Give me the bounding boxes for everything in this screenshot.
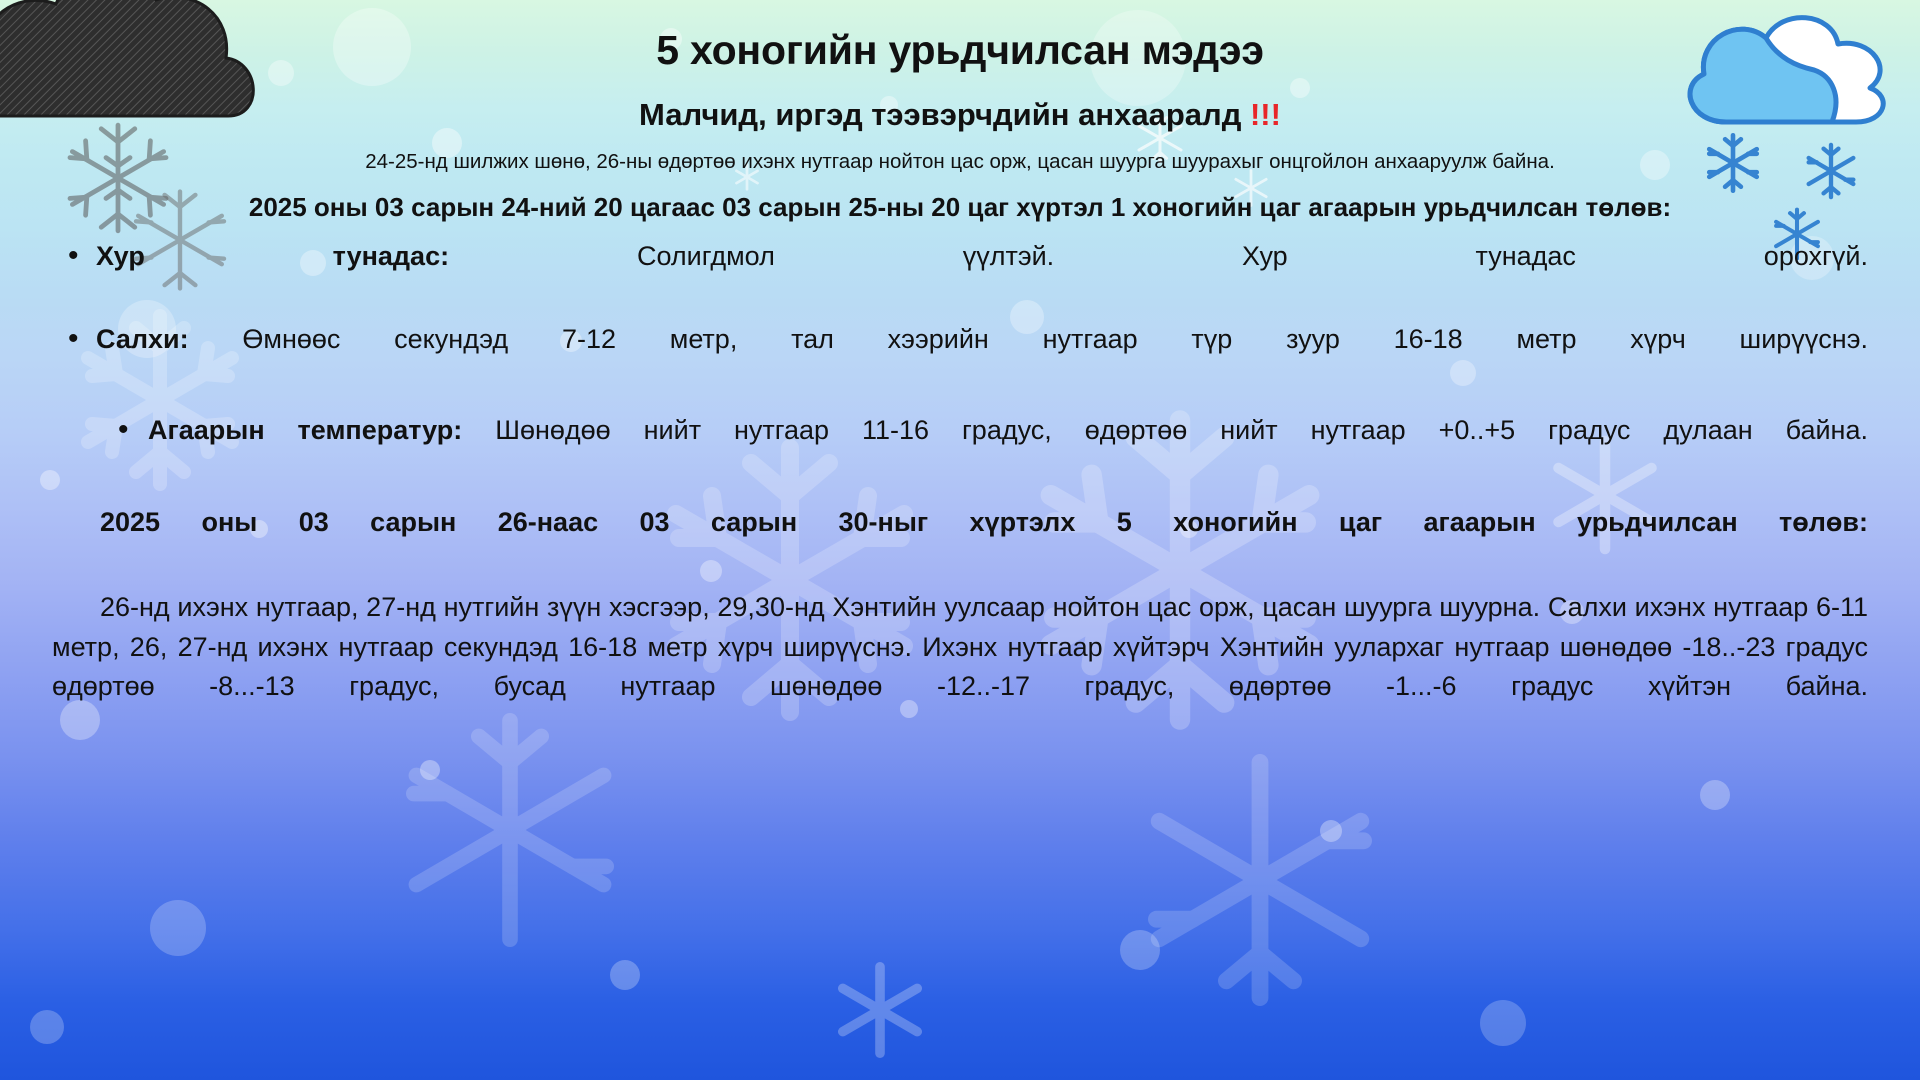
bokeh-circle xyxy=(1700,780,1730,810)
warning-exclamation-marks: !!! xyxy=(1250,97,1281,132)
warning-heading-text: Малчид, иргэд тээвэрчдийн анхааралд xyxy=(639,97,1250,132)
bullet-text: Шөнөдөө нийт нутгаар 11-16 градус, өдөрт… xyxy=(462,415,1868,445)
bokeh-circle xyxy=(1480,1000,1526,1046)
forecast-1-heading: 2025 оны 03 сарын 24-ний 20 цагаас 03 са… xyxy=(52,190,1868,225)
forecast-2-body: 26-нд ихэнх нутгаар, 27-нд нутгийн зүүн … xyxy=(52,588,1868,745)
list-item-wind: Салхи: Өмнөөс секундэд 7-12 метр, тал хэ… xyxy=(52,320,1868,397)
bokeh-circle xyxy=(610,960,640,990)
page-title: 5 хоногийн урьдчилсан мэдээ xyxy=(52,26,1868,74)
forecast-2-heading: 2025 оны 03 сарын 26-наас 03 сарын 30-ны… xyxy=(52,503,1868,581)
snowflake-icon xyxy=(1120,740,1400,1020)
forecast-document: 5 хоногийн урьдчилсан мэдээ Малчид, иргэ… xyxy=(0,0,1920,745)
bokeh-circle xyxy=(1120,930,1160,970)
bokeh-circle xyxy=(30,1010,64,1044)
forecast-1-bullet-list: Хур тунадас: Солигдмол үүлтэй. Хур тунад… xyxy=(52,237,1868,489)
warning-body-text: 24-25-нд шилжих шөнө, 26-ны өдөртөө ихэн… xyxy=(175,147,1745,176)
bullet-label: Салхи: xyxy=(96,324,189,354)
list-item-precipitation: Хур тунадас: Солигдмол үүлтэй. Хур тунад… xyxy=(52,237,1868,314)
bullet-text: Солигдмол үүлтэй. Хур тунадас орохгүй. xyxy=(449,241,1868,271)
bullet-text: Өмнөөс секундэд 7-12 метр, тал хээрийн н… xyxy=(189,324,1868,354)
bullet-label: Агаарын температур: xyxy=(148,415,462,445)
warning-heading: Малчид, иргэд тээвэрчдийн анхааралд !!! xyxy=(52,96,1868,133)
list-item-air-temperature: Агаарын температур: Шөнөдөө нийт нутгаар… xyxy=(52,411,1868,488)
bokeh-circle xyxy=(150,900,206,956)
bokeh-circle xyxy=(420,760,440,780)
snowflake-icon xyxy=(820,950,940,1070)
bokeh-circle xyxy=(1320,820,1342,842)
bullet-label: Хур тунадас: xyxy=(96,241,449,271)
